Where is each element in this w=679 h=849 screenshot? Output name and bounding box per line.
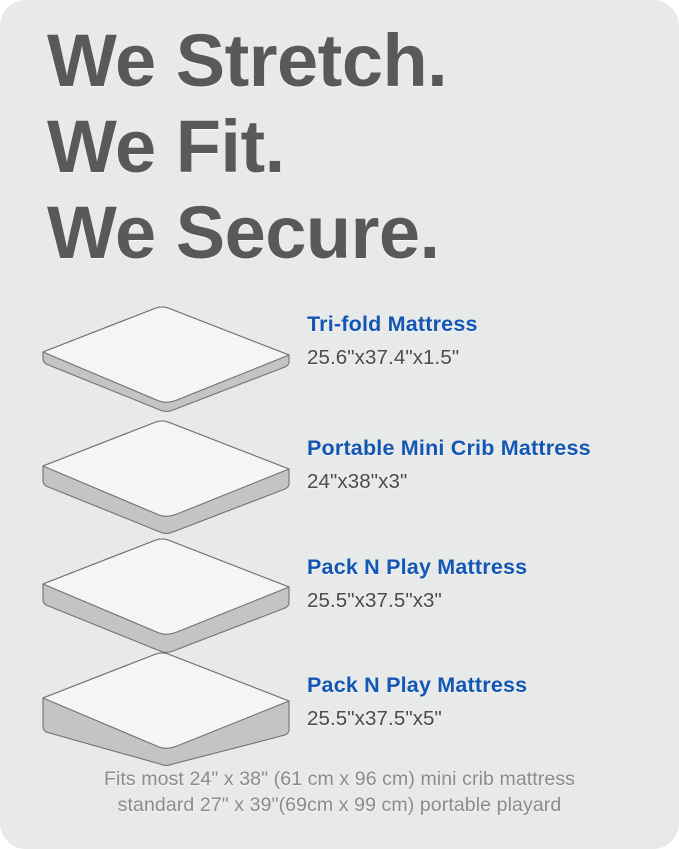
- mattress-3d-icon: [38, 534, 296, 652]
- product-row-text: Portable Mini Crib Mattress 24"x38"x3": [307, 436, 667, 494]
- headline-block: We Stretch. We Fit. We Secure.: [47, 18, 647, 276]
- footer-line-1: Fits most 24" x 38" (61 cm x 96 cm) mini…: [0, 766, 679, 792]
- product-dimensions: 24"x38"x3": [307, 470, 667, 494]
- product-row-text: Tri-fold Mattress 25.6"x37.4"x1.5": [307, 312, 667, 370]
- product-title: Tri-fold Mattress: [307, 312, 667, 337]
- product-row-text: Pack N Play Mattress 25.5"x37.5"x3": [307, 555, 667, 613]
- mattress-3d-icon: [38, 416, 296, 534]
- product-dimensions: 25.5"x37.5"x3": [307, 589, 667, 613]
- product-title: Pack N Play Mattress: [307, 555, 667, 580]
- headline-line-3: We Secure.: [47, 190, 647, 276]
- footer-note: Fits most 24" x 38" (61 cm x 96 cm) mini…: [0, 766, 679, 818]
- infographic-panel: We Stretch. We Fit. We Secure. Tri-fold …: [0, 0, 679, 849]
- product-row: Pack N Play Mattress 25.5"x37.5"x3": [0, 528, 679, 646]
- product-row: Pack N Play Mattress 25.5"x37.5"x5": [0, 646, 679, 764]
- product-title: Pack N Play Mattress: [307, 673, 667, 698]
- product-dimensions: 25.5"x37.5"x5": [307, 707, 667, 731]
- headline-line-1: We Stretch.: [47, 18, 647, 104]
- mattress-3d-icon: [38, 650, 296, 768]
- product-title: Portable Mini Crib Mattress: [307, 436, 667, 461]
- product-row-text: Pack N Play Mattress 25.5"x37.5"x5": [307, 673, 667, 731]
- product-list: Tri-fold Mattress 25.6"x37.4"x1.5" Porta…: [0, 292, 679, 764]
- footer-line-2: standard 27" x 39"(69cm x 99 cm) portabl…: [0, 792, 679, 818]
- headline-line-2: We Fit.: [47, 104, 647, 190]
- mattress-3d-icon: [38, 300, 296, 418]
- product-row: Tri-fold Mattress 25.6"x37.4"x1.5": [0, 292, 679, 410]
- product-dimensions: 25.6"x37.4"x1.5": [307, 346, 667, 370]
- product-row: Portable Mini Crib Mattress 24"x38"x3": [0, 410, 679, 528]
